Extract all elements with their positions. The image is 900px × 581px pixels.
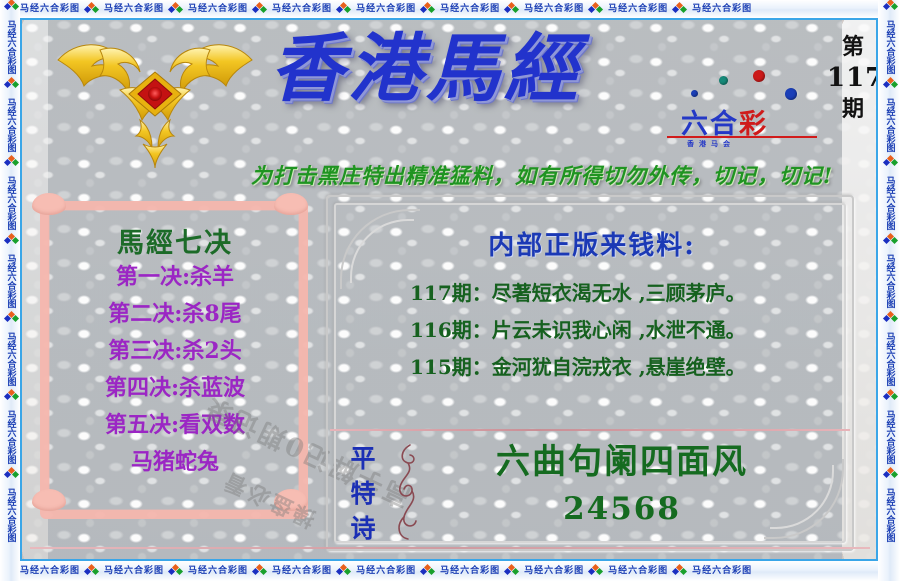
marquee-label: 马经六合彩图 [688, 567, 756, 576]
marquee-border-top: 马经六合彩图马经六合彩图马经六合彩图马经六合彩图马经六合彩图马经六合彩图马经六合… [0, 0, 900, 18]
lottery-subtitle: 香港马会 [687, 139, 735, 149]
diamond-cluster-icon [168, 3, 184, 15]
right-panel-title: 内部正版来钱料: [322, 225, 862, 262]
marquee-label: 马经六合彩图 [100, 567, 168, 576]
lottery-ball [691, 90, 698, 97]
poem-label: 平 特 诗 [346, 441, 380, 546]
diamond-cluster-icon [4, 234, 16, 250]
marquee-label: 马经六合彩图 [6, 172, 15, 234]
diamond-cluster-icon [4, 0, 16, 16]
issue-prefix: 第 [827, 32, 878, 62]
marquee-label: 马经六合彩图 [520, 567, 588, 576]
marquee-label: 马经六合彩图 [436, 567, 504, 576]
diamond-cluster-icon [4, 390, 16, 406]
marquee-label: 马经六合彩图 [885, 250, 894, 312]
marquee-label: 马经六合彩图 [885, 16, 894, 78]
list-item: 第一决:杀羊 [30, 259, 320, 296]
list-item: 第五决:看双数 [30, 407, 320, 444]
right-panel: 内部正版来钱料: 117期：尽著短衣渴无水 ,三顾茅庐。 116期：片云未识我心… [322, 191, 862, 557]
ribbon-knot-icon [274, 193, 308, 215]
list-item: 117期：尽著短衣渴无水 ,三顾茅庐。 [322, 275, 862, 312]
list-item: 116期：片云未识我心闲 ,水泄不通。 [322, 312, 862, 349]
issue-suffix: 期 [827, 94, 878, 124]
diamond-cluster-icon [252, 3, 268, 15]
lottery-ball [785, 88, 797, 100]
page-title: 香港馬經 [270, 32, 582, 106]
diamond-cluster-icon [883, 468, 895, 484]
marquee-label: 马经六合彩图 [885, 94, 894, 156]
list-item: 115期：金河犹自浣戎衣 ,悬崖绝壁。 [322, 349, 862, 386]
marquee-label: 马经六合彩图 [885, 172, 894, 234]
forecast-list: 117期：尽著短衣渴无水 ,三顾茅庐。 116期：片云未识我心闲 ,水泄不通。 … [322, 275, 862, 386]
diamond-cluster-icon [883, 78, 895, 94]
diamond-cluster-icon [168, 565, 184, 577]
issue-number-box: 第 117 期 [827, 32, 878, 124]
diamond-cluster-icon [672, 3, 688, 15]
marquee-label: 马经六合彩图 [184, 567, 252, 576]
list-item: 第四决:杀蓝波 [30, 370, 320, 407]
lottery-red-rule [667, 136, 817, 138]
ribbon-knot-icon [274, 489, 308, 511]
marquee-label: 马经六合彩图 [100, 5, 168, 14]
issue-number: 117 [827, 62, 878, 94]
list-item: 马猪蛇兔 [30, 444, 320, 481]
diamond-cluster-icon [588, 3, 604, 15]
marquee-label: 马经六合彩图 [885, 406, 894, 468]
marquee-border-right: 马经六合彩图马经六合彩图马经六合彩图马经六合彩图马经六合彩图马经六合彩图马经六合… [878, 0, 900, 581]
list-item: 第三决:杀2头 [30, 333, 320, 370]
marquee-label: 马经六合彩图 [6, 16, 15, 78]
marquee-label: 马经六合彩图 [604, 567, 672, 576]
poem-section: 平 特 诗 六曲句 [322, 439, 862, 551]
list-item: 第二决:杀8尾 [30, 296, 320, 333]
marquee-border-left: 马经六合彩图马经六合彩图马经六合彩图马经六合彩图马经六合彩图马经六合彩图马经六合… [0, 0, 20, 581]
diamond-cluster-icon [4, 468, 16, 484]
marquee-label: 马经六合彩图 [6, 250, 15, 312]
diamond-cluster-icon [672, 565, 688, 577]
diamond-cluster-icon [883, 312, 895, 328]
floral-swirl-icon [388, 441, 428, 545]
poster-root: 马经六合彩图马经六合彩图马经六合彩图马经六合彩图马经六合彩图马经六合彩图马经六合… [0, 0, 900, 581]
marquee-label: 马经六合彩图 [520, 5, 588, 14]
marquee-label: 马经六合彩图 [885, 484, 894, 546]
marquee-label: 马经六合彩图 [6, 94, 15, 156]
diamond-cluster-icon [883, 234, 895, 250]
marquee-label: 马经六合彩图 [885, 328, 894, 390]
marquee-label: 马经六合彩图 [6, 328, 15, 390]
lottery-ball [753, 70, 765, 82]
diamond-cluster-icon [883, 156, 895, 172]
poem-label-char: 诗 [346, 511, 380, 546]
left-panel-heading: 馬經七决 [30, 221, 320, 260]
diamond-cluster-icon [4, 78, 16, 94]
poster-body: 馬經七决 第一决:杀羊 第二决:杀8尾 第三决:杀2头 第四决:杀蓝波 第五决:… [22, 185, 878, 561]
poem-text: 六曲句阑四面风 [432, 439, 812, 485]
marquee-border-bottom: 马经六合彩图马经六合彩图马经六合彩图马经六合彩图马经六合彩图马经六合彩图马经六合… [0, 561, 900, 581]
marquee-label: 马经六合彩图 [268, 5, 336, 14]
left-panel: 馬經七决 第一决:杀羊 第二决:杀8尾 第三决:杀2头 第四决:杀蓝波 第五决:… [30, 193, 320, 555]
lottery-ball [719, 76, 728, 85]
marquee-label: 马经六合彩图 [16, 5, 84, 14]
marquee-label: 马经六合彩图 [688, 5, 756, 14]
poster-header: 香港馬經 六合彩 香港马会 第 117 期 为打击黑庄特出精准猛料，如有所得切勿… [22, 20, 878, 185]
poster-page: 香港馬經 六合彩 香港马会 第 117 期 为打击黑庄特出精准猛料，如有所得切勿… [20, 18, 878, 561]
marquee-label: 马经六合彩图 [352, 567, 420, 576]
marquee-label: 马经六合彩图 [604, 5, 672, 14]
poem-number: 24568 [432, 491, 812, 527]
marquee-label: 马经六合彩图 [184, 5, 252, 14]
poem-label-char: 平 [346, 441, 380, 476]
golden-dragon-crest-icon [40, 28, 270, 168]
poem-label-char: 特 [346, 476, 380, 511]
marquee-label: 马经六合彩图 [6, 406, 15, 468]
marquee-label: 马经六合彩图 [268, 567, 336, 576]
marquee-label: 马经六合彩图 [6, 484, 15, 546]
diamond-cluster-icon [588, 565, 604, 577]
diamond-cluster-icon [4, 156, 16, 172]
diamond-cluster-icon [84, 565, 100, 577]
diamond-cluster-icon [420, 565, 436, 577]
ribbon-knot-icon [32, 193, 66, 215]
bottom-divider [30, 547, 870, 549]
marquee-label: 马经六合彩图 [16, 567, 84, 576]
diamond-cluster-icon [4, 312, 16, 328]
diamond-cluster-icon [336, 565, 352, 577]
marquee-label: 马经六合彩图 [436, 5, 504, 14]
diamond-cluster-icon [883, 0, 895, 16]
diamond-cluster-icon [883, 390, 895, 406]
diamond-cluster-icon [504, 3, 520, 15]
diamond-cluster-icon [336, 3, 352, 15]
diamond-cluster-icon [252, 565, 268, 577]
lottery-logo: 六合彩 香港马会 [677, 60, 817, 152]
divider-rule [330, 429, 850, 431]
marquee-label: 马经六合彩图 [352, 5, 420, 14]
ribbon-knot-icon [32, 489, 66, 511]
diamond-cluster-icon [504, 565, 520, 577]
diamond-cluster-icon [420, 3, 436, 15]
left-panel-list: 第一决:杀羊 第二决:杀8尾 第三决:杀2头 第四决:杀蓝波 第五决:看双数 马… [30, 259, 320, 481]
diamond-cluster-icon [84, 3, 100, 15]
